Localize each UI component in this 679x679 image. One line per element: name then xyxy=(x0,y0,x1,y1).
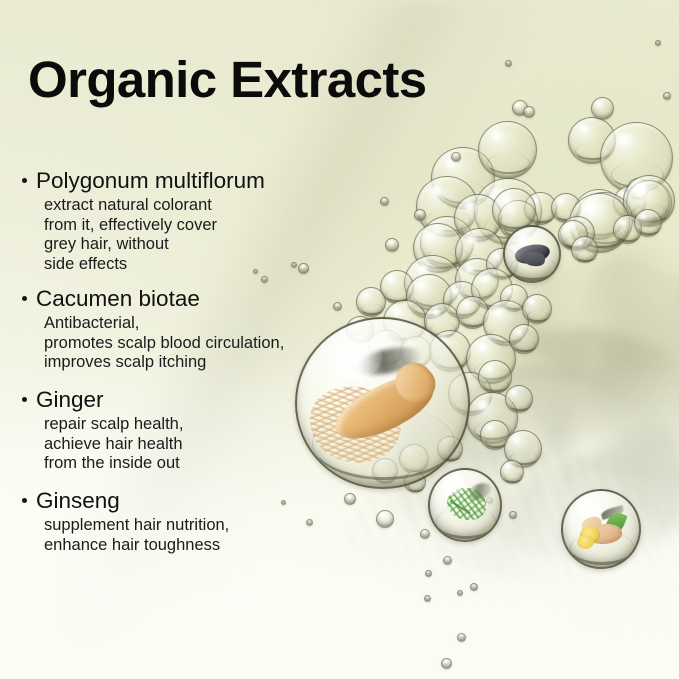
description-line: from it, effectively cover xyxy=(44,216,352,236)
ingredient-list: Polygonum multiflorum extract natural co… xyxy=(22,168,352,563)
text-column: Organic Extracts Polygonum multiflorum e… xyxy=(0,0,420,679)
bubble xyxy=(478,121,537,179)
bubble-small xyxy=(457,590,463,596)
ingredient-description: Antibacterial, promotes scalp blood circ… xyxy=(44,314,352,373)
bullet-dot-icon xyxy=(22,178,27,183)
bubble-small xyxy=(425,570,432,577)
ingredient-heading: Polygonum multiflorum xyxy=(22,168,352,193)
ingredient-description: repair scalp health, achieve hair health… xyxy=(44,415,352,474)
bubble-small xyxy=(655,40,661,46)
description-line: promotes scalp blood circulation, xyxy=(44,334,352,354)
content-bubble-biota xyxy=(428,468,502,542)
ingredient-description: supplement hair nutrition, enhance hair … xyxy=(44,516,352,555)
organic-extracts-poster: Organic Extracts Polygonum multiflorum e… xyxy=(0,0,679,679)
bubble xyxy=(571,236,598,263)
bubble-small xyxy=(451,152,461,162)
description-line: from the inside out xyxy=(44,454,352,474)
ingredient-item: Ginseng supplement hair nutrition, enhan… xyxy=(22,488,352,555)
ingredient-name: Polygonum multiflorum xyxy=(36,168,265,193)
bubble-small xyxy=(509,511,517,519)
bubble-small xyxy=(470,583,478,591)
description-line: side effects xyxy=(44,255,352,275)
ginger-slice-secondary-icon xyxy=(576,534,594,550)
bubble xyxy=(509,324,539,354)
cypress-sprig-icon xyxy=(447,488,486,520)
description-line: Antibacterial, xyxy=(44,314,352,334)
bullet-dot-icon xyxy=(22,498,27,503)
ingredient-name: Ginger xyxy=(36,387,104,412)
description-line: supplement hair nutrition, xyxy=(44,516,352,536)
bubble-small xyxy=(441,658,452,669)
ingredient-name: Cacumen biotae xyxy=(36,286,200,311)
bubble-small xyxy=(424,595,431,602)
ingredient-item: Ginger repair scalp health, achieve hair… xyxy=(22,387,352,474)
ingredient-item: Cacumen biotae Antibacterial, promotes s… xyxy=(22,286,352,373)
bubble xyxy=(634,209,662,237)
ingredient-description: extract natural colorant from it, effect… xyxy=(44,196,352,275)
bullet-dot-icon xyxy=(22,397,27,402)
bubble xyxy=(500,460,524,484)
ingredient-heading: Ginger xyxy=(22,387,352,412)
description-line: enhance hair toughness xyxy=(44,536,352,556)
bullet-dot-icon xyxy=(22,296,27,301)
bubble-small xyxy=(505,60,512,67)
description-line: achieve hair health xyxy=(44,435,352,455)
bubble-small xyxy=(523,106,535,118)
bubble-small xyxy=(443,556,452,565)
ingredient-heading: Cacumen biotae xyxy=(22,286,352,311)
ingredient-heading: Ginseng xyxy=(22,488,352,513)
ingredient-item: Polygonum multiflorum extract natural co… xyxy=(22,168,352,275)
bubble-small xyxy=(420,529,430,539)
content-bubble-ginger xyxy=(561,489,641,569)
bubble-small xyxy=(457,633,466,642)
content-bubble-polygonum xyxy=(503,225,561,283)
page-title: Organic Extracts xyxy=(28,54,427,105)
bubble xyxy=(505,385,533,413)
description-line: repair scalp health, xyxy=(44,415,352,435)
description-line: improves scalp itching xyxy=(44,353,352,373)
ingredient-name: Ginseng xyxy=(36,488,120,513)
bubble-small xyxy=(591,97,614,120)
description-line: extract natural colorant xyxy=(44,196,352,216)
bubble-glare xyxy=(575,499,601,519)
description-line: grey hair, without xyxy=(44,235,352,255)
bubble xyxy=(478,360,512,394)
bubble-small xyxy=(663,92,671,100)
bubble xyxy=(522,294,552,324)
